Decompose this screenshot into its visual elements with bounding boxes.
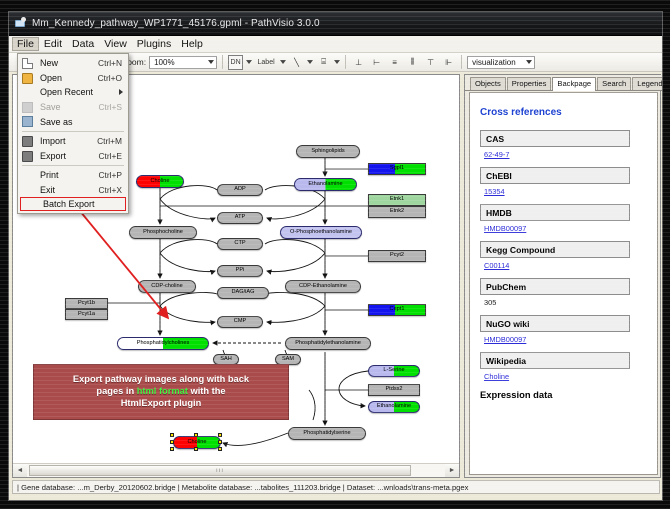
open-folder-icon — [22, 73, 33, 84]
db-link-hmdb[interactable]: HMDB00097 — [484, 224, 649, 233]
backpage-content: Cross references CAS 62-49-7 ChEBI 15354… — [469, 92, 658, 475]
zoom-value: 100% — [154, 58, 174, 67]
save-as-icon — [22, 116, 33, 127]
toolbar-separator-3 — [461, 55, 462, 69]
db-header-chebi: ChEBI — [480, 167, 630, 184]
menu-bar: File Edit Data View Plugins Help — [9, 36, 663, 53]
file-menu-item-export[interactable]: Export Ctrl+E — [18, 149, 128, 164]
align-left-icon[interactable]: ⊢ — [369, 55, 384, 70]
scroll-right-icon[interactable]: ► — [445, 464, 459, 477]
db-link-chebi[interactable]: 15354 — [484, 187, 649, 196]
shape-tool-icon[interactable]: ⌸ — [316, 55, 331, 70]
export-icon — [22, 151, 33, 162]
application-window: Mm_Kennedy_pathway_WP1771_45176.gpml - P… — [8, 11, 663, 501]
distribute-horizontal-icon[interactable]: ≡ — [387, 55, 402, 70]
file-menu-item-exit[interactable]: Exit Ctrl+X — [18, 183, 128, 198]
db-header-pubchem: PubChem — [480, 278, 630, 295]
canvas-hscrollbar[interactable]: ◄ ııı ► — [13, 463, 459, 477]
zoom-combobox[interactable]: 100% — [149, 56, 217, 69]
align-bottom-icon[interactable]: ⊤ — [423, 55, 438, 70]
status-bar-text: | Gene database: ...m_Derby_20120602.bri… — [17, 483, 468, 492]
tab-objects[interactable]: Objects — [470, 77, 506, 91]
toolbar-separator — [222, 55, 223, 69]
pathvisio-icon — [14, 17, 27, 30]
expression-data-heading: Expression data — [480, 389, 649, 400]
file-menu-separator-2 — [22, 165, 124, 166]
db-header-hmdb: HMDB — [480, 204, 630, 221]
menu-edit[interactable]: Edit — [39, 37, 67, 51]
file-menu-item-open[interactable]: Open Ctrl+O — [18, 71, 128, 86]
db-header-wikipedia: Wikipedia — [480, 352, 630, 369]
distribute-vertical-icon[interactable]: ⫼ — [405, 55, 420, 70]
tab-backpage[interactable]: Backpage — [552, 77, 596, 92]
line-tool-icon[interactable]: ╲ — [289, 55, 304, 70]
menu-help[interactable]: Help — [176, 37, 208, 51]
file-menu-item-batch-export[interactable]: Batch Export — [20, 197, 126, 211]
file-menu-separator-1 — [22, 131, 124, 132]
db-header-cas: CAS — [480, 130, 630, 147]
group-icon[interactable]: ⊩ — [441, 55, 456, 70]
status-bar: | Gene database: ...m_Derby_20120602.bri… — [12, 480, 660, 494]
menu-file[interactable]: File — [12, 37, 39, 51]
visualization-combobox[interactable]: visualization — [467, 56, 535, 69]
side-panel-tabs: Objects Properties Backpage Search Legen… — [465, 75, 662, 91]
file-menu-item-save-as[interactable]: Save as — [18, 114, 128, 129]
db-link-cas[interactable]: 62-49-7 — [484, 150, 649, 159]
db-value-pubchem: 305 — [484, 298, 649, 307]
file-menu-item-new[interactable]: New Ctrl+N — [18, 56, 128, 71]
shape-dropdown-icon[interactable] — [334, 60, 340, 64]
tab-legend[interactable]: Legend — [632, 77, 663, 91]
side-panel: Objects Properties Backpage Search Legen… — [464, 74, 661, 478]
tab-properties[interactable]: Properties — [507, 77, 552, 91]
hscroll-track[interactable]: ııı — [27, 464, 445, 477]
screenshot-frame: Mm_Kennedy_pathway_WP1771_45176.gpml - P… — [0, 0, 670, 509]
chevron-down-icon — [208, 60, 214, 64]
db-link-kegg-compound[interactable]: C00114 — [484, 261, 649, 270]
menu-view[interactable]: View — [99, 37, 132, 51]
chevron-down-icon-2 — [526, 60, 532, 64]
label-dropdown-icon[interactable] — [280, 60, 286, 64]
db-header-nugo-wiki: NuGO wiki — [480, 315, 630, 332]
align-top-icon[interactable]: ⊥ — [351, 55, 366, 70]
file-menu-item-save: Save Ctrl+S — [18, 100, 128, 115]
window-title: Mm_Kennedy_pathway_WP1771_45176.gpml - P… — [32, 18, 320, 29]
label-button[interactable]: Label — [255, 55, 277, 70]
cross-references-heading: Cross references — [480, 107, 649, 118]
title-bar: Mm_Kennedy_pathway_WP1771_45176.gpml - P… — [9, 12, 663, 36]
toolbar-separator-2 — [345, 55, 346, 69]
hscroll-thumb[interactable]: ııı — [29, 465, 411, 476]
file-menu-dropdown[interactable]: New Ctrl+N Open Ctrl+O Open Recent Save … — [17, 53, 129, 214]
file-menu-item-print[interactable]: Print Ctrl+P — [18, 168, 128, 183]
file-menu-item-import[interactable]: Import Ctrl+M — [18, 134, 128, 149]
tab-search[interactable]: Search — [597, 77, 631, 91]
db-link-wikipedia[interactable]: Choline — [484, 372, 649, 381]
visualization-value: visualization — [472, 58, 516, 67]
menu-data[interactable]: Data — [67, 37, 99, 51]
submenu-arrow-icon — [119, 89, 123, 95]
menu-plugins[interactable]: Plugins — [132, 37, 176, 51]
db-link-nugo-wiki[interactable]: HMDB00097 — [484, 335, 649, 344]
datanode-dropdown-icon[interactable] — [246, 60, 252, 64]
line-dropdown-icon[interactable] — [307, 60, 313, 64]
file-menu-item-open-recent[interactable]: Open Recent — [18, 85, 128, 100]
db-header-kegg-compound: Kegg Compound — [480, 241, 630, 258]
new-document-icon — [22, 58, 33, 69]
scroll-left-icon[interactable]: ◄ — [13, 464, 27, 477]
save-disk-icon — [22, 102, 33, 113]
datanode-button[interactable]: DN — [228, 55, 243, 70]
import-icon — [22, 136, 33, 147]
